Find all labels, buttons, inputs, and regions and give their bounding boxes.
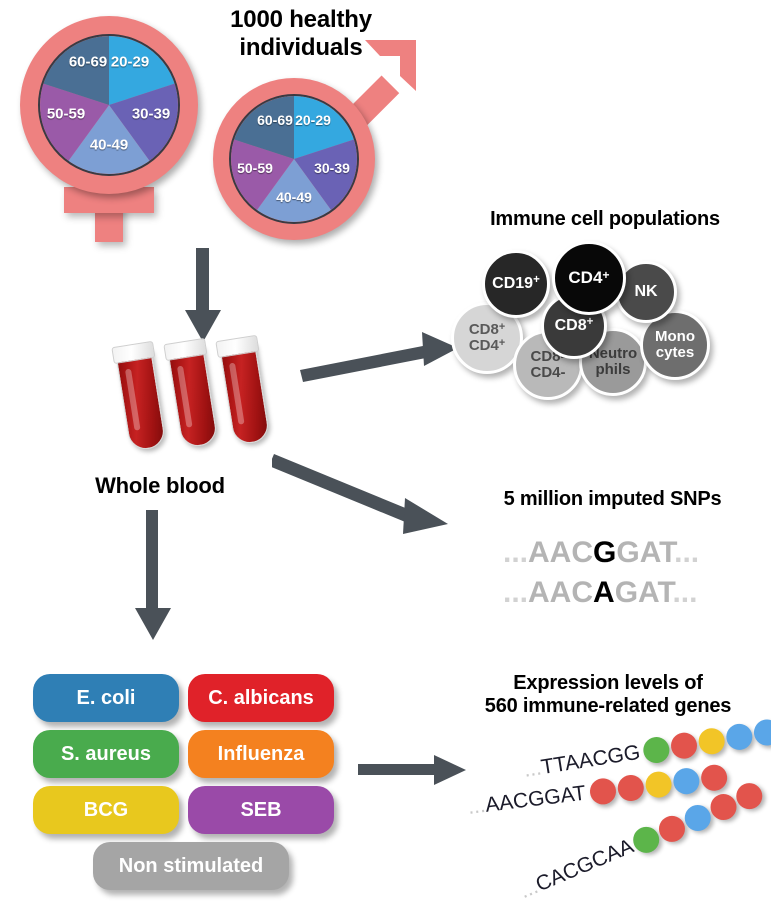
gene-bead [672, 767, 701, 796]
gene-bead [616, 774, 645, 803]
gene-strand-sequence: ...AACGGAT [467, 782, 588, 820]
gene-strand-sequence: ...CACGCAA [516, 835, 637, 905]
gene-strands: ...TTAACGG ...AACGGAT ...CACGCAA [0, 0, 771, 922]
gene-bead [642, 735, 672, 765]
figure-canvas: 1000 healthy individuals 20-29 30-39 40-… [0, 0, 771, 922]
gene-bead [699, 763, 728, 792]
gene-bead [725, 722, 755, 752]
gene-bead [588, 777, 617, 806]
gene-bead [697, 726, 727, 756]
gene-bead [753, 718, 771, 748]
gene-bead [733, 779, 767, 813]
gene-bead [644, 770, 673, 799]
gene-bead [670, 731, 700, 761]
